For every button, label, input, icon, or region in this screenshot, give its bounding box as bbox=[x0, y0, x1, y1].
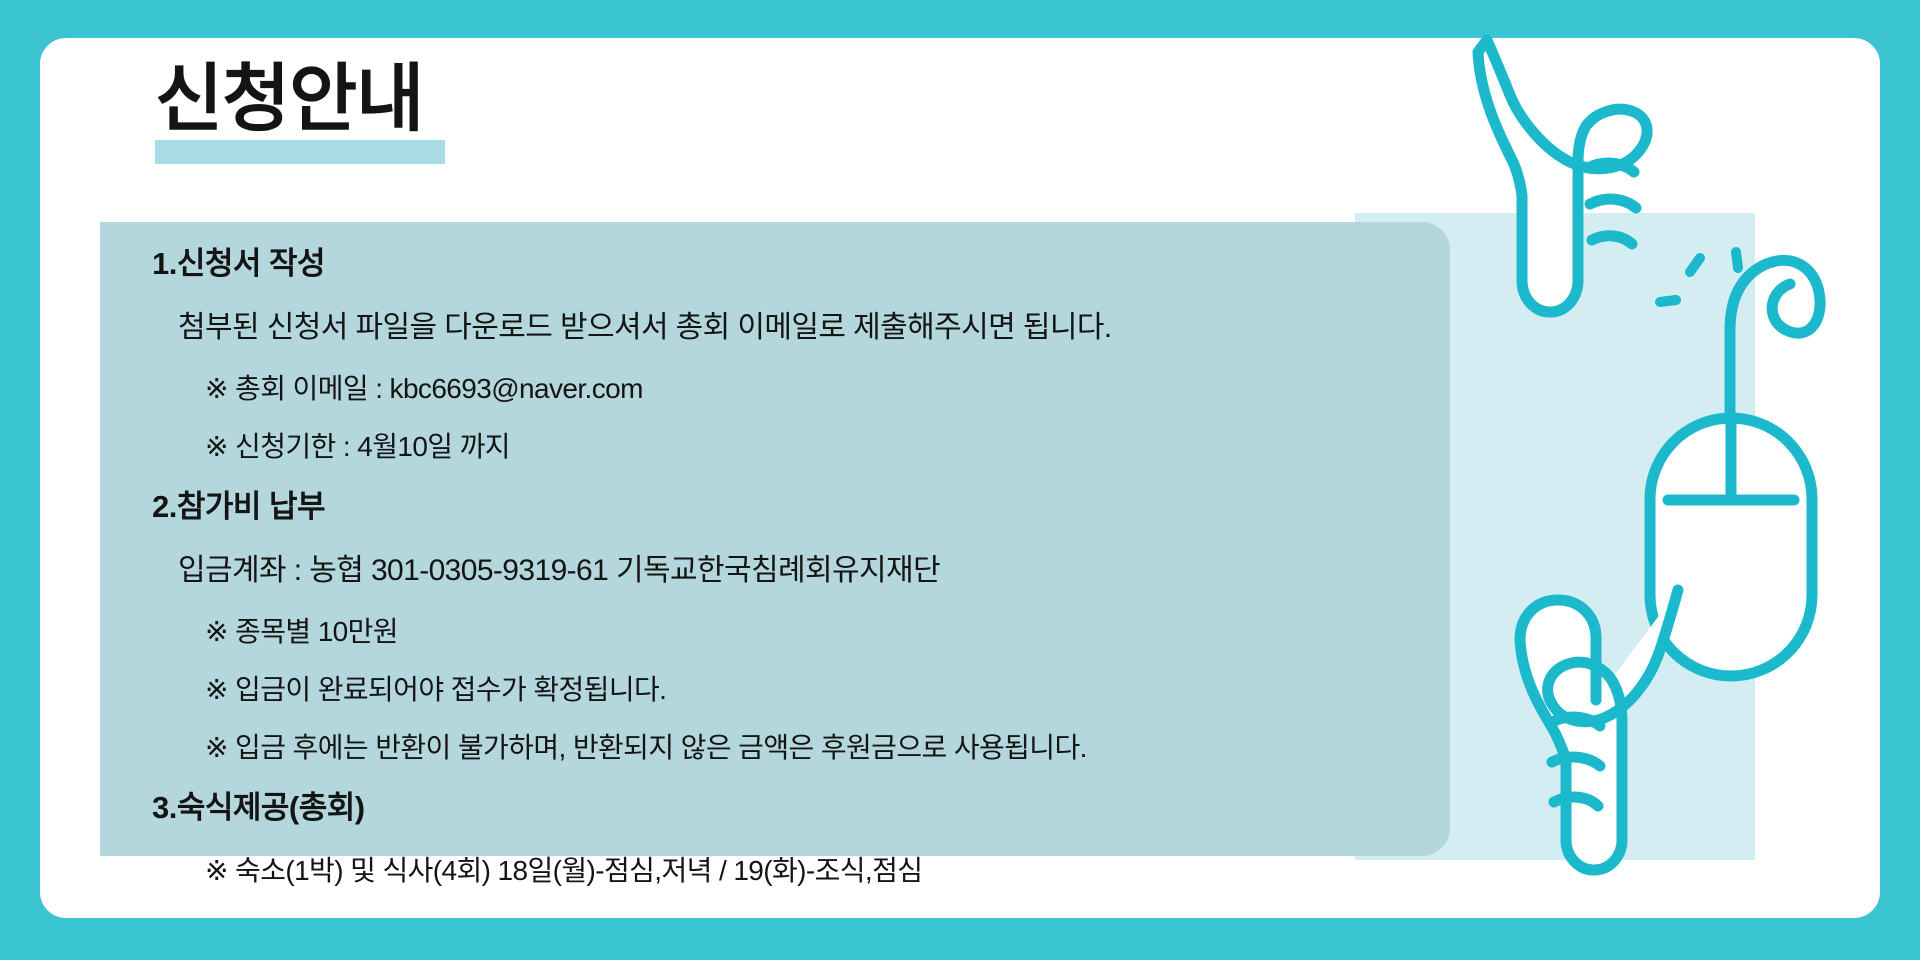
content-panel: 1.신청서 작성 첨부된 신청서 파일을 다운로드 받으셔서 총회 이메일로 제… bbox=[100, 222, 1450, 856]
section-1-body: 첨부된 신청서 파일을 다운로드 받으셔서 총회 이메일로 제출해주시면 됩니다… bbox=[178, 313, 1450, 343]
section-2-body: 입금계좌 : 농협 301-0305-9319-61 기독교한국침례회유지재단 bbox=[178, 556, 1450, 586]
section-1-note-email: ※ 총회 이메일 : kbc6693@naver.com bbox=[205, 375, 1450, 403]
section-3-heading: 3.숙식제공(총회) bbox=[152, 792, 1450, 823]
title-highlight-bar bbox=[155, 140, 445, 164]
section-2-note-refund: ※ 입금 후에는 반환이 불가하며, 반환되지 않은 금액은 후원금으로 사용됩… bbox=[205, 734, 1450, 762]
poster-root: 신청안내 1.신청서 작성 첨부된 신청서 파일을 다운로드 받으셔서 총회 이… bbox=[0, 0, 1920, 960]
section-2-note-fee: ※ 종목별 10만원 bbox=[205, 618, 1450, 646]
page-title-text: 신청안내 bbox=[155, 62, 423, 136]
section-2-heading: 2.참가비 납부 bbox=[152, 491, 1450, 522]
section-3-note-lodging: ※ 숙소(1박) 및 식사(4회) 18일(월)-점심,저녁 / 19(화)-조… bbox=[205, 857, 1450, 885]
section-2-note-confirm: ※ 입금이 완료되어야 접수가 확정됩니다. bbox=[205, 676, 1450, 704]
page-title: 신청안내 bbox=[155, 62, 423, 162]
section-1-heading: 1.신청서 작성 bbox=[152, 248, 1450, 279]
section-1-note-deadline: ※ 신청기한 : 4월10일 까지 bbox=[205, 433, 1450, 461]
